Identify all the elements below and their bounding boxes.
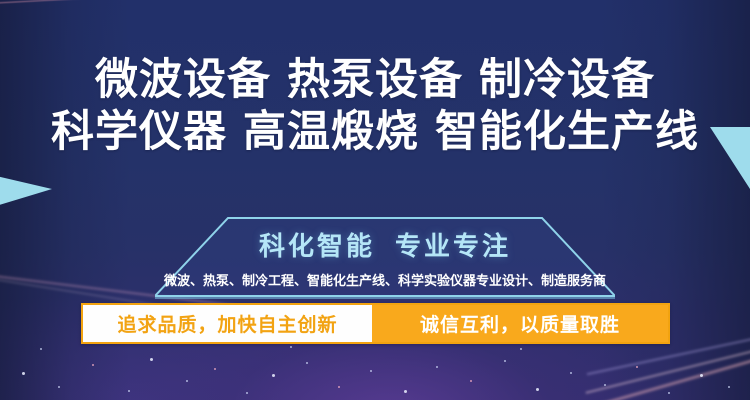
slogan-ribbon-bar: 追求品质，加快自主创新 诚信互利，以质量取胜 <box>81 303 670 344</box>
headline-2-part-1: 科学仪器 <box>51 107 227 157</box>
panel-slogan-part-1: 科化智能 <box>259 232 375 262</box>
headline-1-part-1: 微波设备 <box>95 55 271 105</box>
ribbon-left-cell: 追求品质，加快自主创新 <box>81 303 372 344</box>
headline-group: 微波设备热泵设备制冷设备 科学仪器高温煅烧智能化生产线 <box>0 58 750 155</box>
headline-1-part-2: 热泵设备 <box>287 55 463 105</box>
ribbon-left-label: 追求品质，加快自主创新 <box>117 310 337 337</box>
headline-line-2: 科学仪器高温煅烧智能化生产线 <box>0 110 750 156</box>
ribbon-right-cell: 诚信互利，以质量取胜 <box>372 303 670 344</box>
panel-slogan-part-2: 专业专注 <box>395 232 511 262</box>
ribbon-right-label: 诚信互利，以质量取胜 <box>420 310 620 337</box>
headline-2-part-2: 高温煅烧 <box>243 107 419 157</box>
panel-subline: 微波、热泵、制冷工程、智能化生产线、科学实验仪器专业设计、制造服务商 <box>164 270 606 289</box>
headline-line-1: 微波设备热泵设备制冷设备 <box>0 58 750 104</box>
panel-slogan: 科化智能专业专注 <box>259 226 511 263</box>
headline-2-part-3: 智能化生产线 <box>435 107 699 157</box>
cyan-triangle-left-icon <box>0 176 52 206</box>
headline-1-part-3: 制冷设备 <box>479 55 655 105</box>
promo-banner: 微波设备热泵设备制冷设备 科学仪器高温煅烧智能化生产线 科化智能专业专注 微波、… <box>0 0 750 400</box>
slogan-panel: 科化智能专业专注 微波、热泵、制冷工程、智能化生产线、科学实验仪器专业设计、制造… <box>155 212 615 300</box>
